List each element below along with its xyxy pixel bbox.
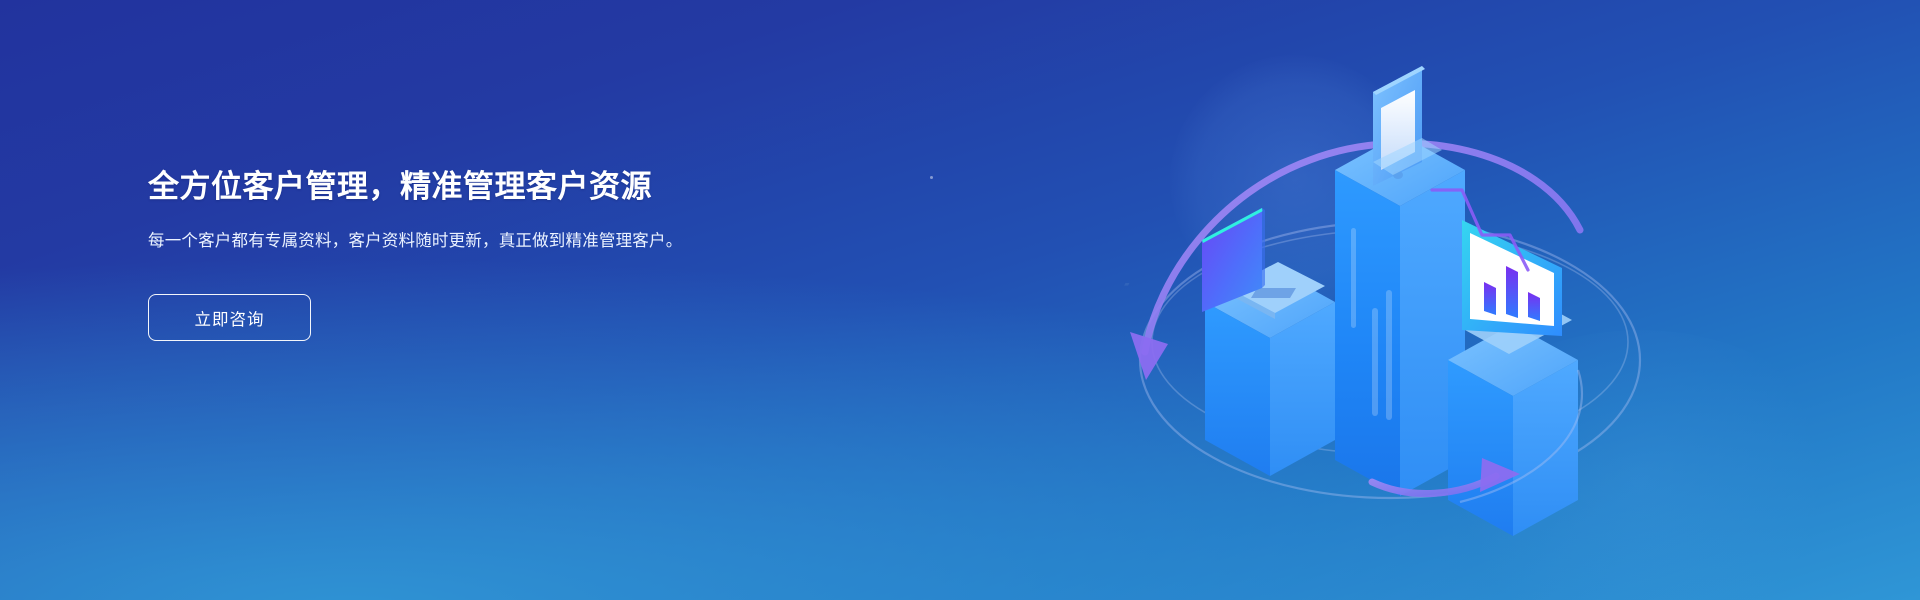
hero-banner: 全方位客户管理，精准管理客户资源 每一个客户都有专属资料，客户资料随时更新，真正… xyxy=(0,0,1920,600)
consult-now-button[interactable]: 立即咨询 xyxy=(148,294,311,341)
background-speck xyxy=(930,176,933,179)
page-title: 全方位客户管理，精准管理客户资源 xyxy=(148,168,768,207)
center-pillar xyxy=(1335,134,1465,496)
right-pillar xyxy=(1448,324,1578,536)
hero-subcopy: 每一个客户都有专属资料，客户资料随时更新，真正做到精准管理客户。 xyxy=(148,229,748,255)
hero-illustration xyxy=(1110,30,1670,590)
hero-copy-block: 全方位客户管理，精准管理客户资源 每一个客户都有专属资料，客户资料随时更新，真正… xyxy=(148,168,768,341)
